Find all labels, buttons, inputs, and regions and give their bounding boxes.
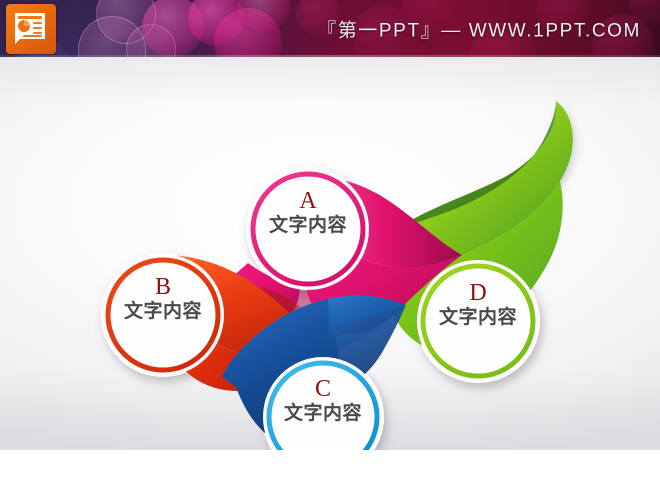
slide-header: 『第一PPT』— WWW.1PPT.COM	[0, 0, 660, 57]
node-b-letter: B	[111, 275, 215, 299]
node-a[interactable]: A 文字内容	[256, 189, 360, 236]
bokeh-circle	[214, 8, 282, 57]
node-b-label: 文字内容	[111, 300, 215, 322]
powerpoint-logo-icon	[6, 4, 56, 54]
slide-canvas: 『第一PPT』— WWW.1PPT.COM	[0, 0, 660, 495]
node-c[interactable]: C 文字内容	[271, 377, 375, 424]
node-b[interactable]: B 文字内容	[111, 275, 215, 322]
node-a-label: 文字内容	[256, 214, 360, 236]
bokeh-circle	[238, 0, 290, 32]
slide-body: A 文字内容 B 文字内容 C 文字内容 D 文字内容	[0, 57, 660, 450]
bokeh-circle	[142, 0, 204, 57]
node-c-letter: C	[271, 377, 375, 401]
logo-pie-icon	[18, 20, 30, 32]
node-d-label: 文字内容	[426, 306, 530, 328]
slide-footer: 第一PPT HTTP://WWW.1PPT.COM	[0, 450, 660, 495]
bokeh-circle	[78, 16, 146, 57]
logo-page-fold	[15, 35, 45, 45]
bokeh-circle	[96, 0, 156, 44]
node-a-letter: A	[256, 189, 360, 213]
header-brand-text: 『第一PPT』— WWW.1PPT.COM	[317, 15, 641, 42]
node-c-label: 文字内容	[271, 402, 375, 424]
bokeh-circle	[188, 0, 244, 46]
node-d-letter: D	[426, 281, 530, 305]
bokeh-circle	[126, 24, 176, 57]
node-d[interactable]: D 文字内容	[426, 281, 530, 328]
